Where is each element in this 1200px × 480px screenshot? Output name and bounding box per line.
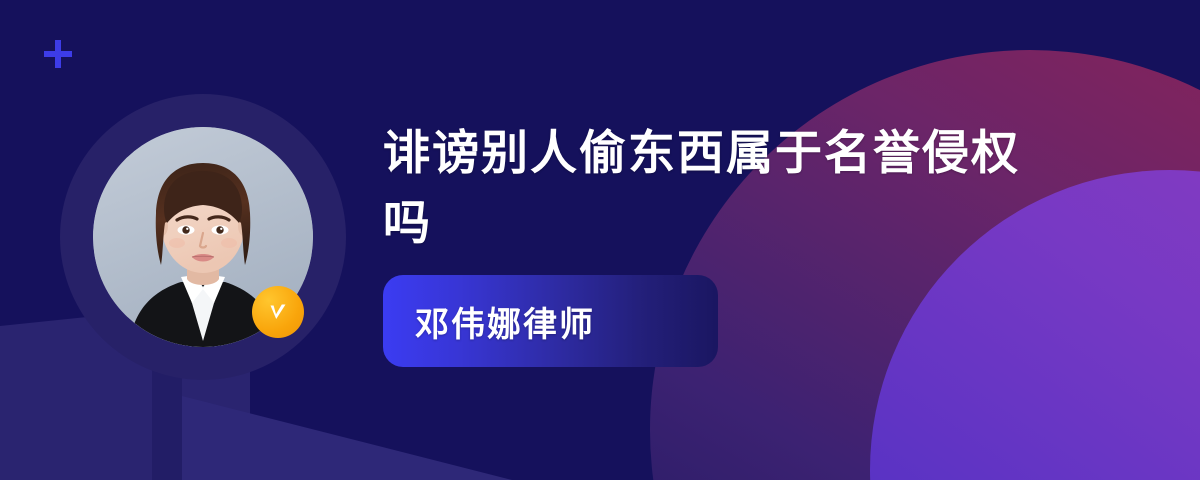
lawyer-qa-banner: 诽谤别人偷东西属于名誉侵权吗 邓伟娜律师 <box>0 0 1200 480</box>
banner-content: 诽谤别人偷东西属于名誉侵权吗 邓伟娜律师 <box>383 118 1173 367</box>
avatar <box>60 94 346 380</box>
verified-badge-icon <box>252 286 304 338</box>
page-title: 诽谤别人偷东西属于名誉侵权吗 <box>383 118 1023 257</box>
lawyer-name-label: 邓伟娜律师 <box>383 297 595 346</box>
plus-icon <box>42 38 74 70</box>
lawyer-name-badge[interactable]: 邓伟娜律师 <box>383 275 718 367</box>
